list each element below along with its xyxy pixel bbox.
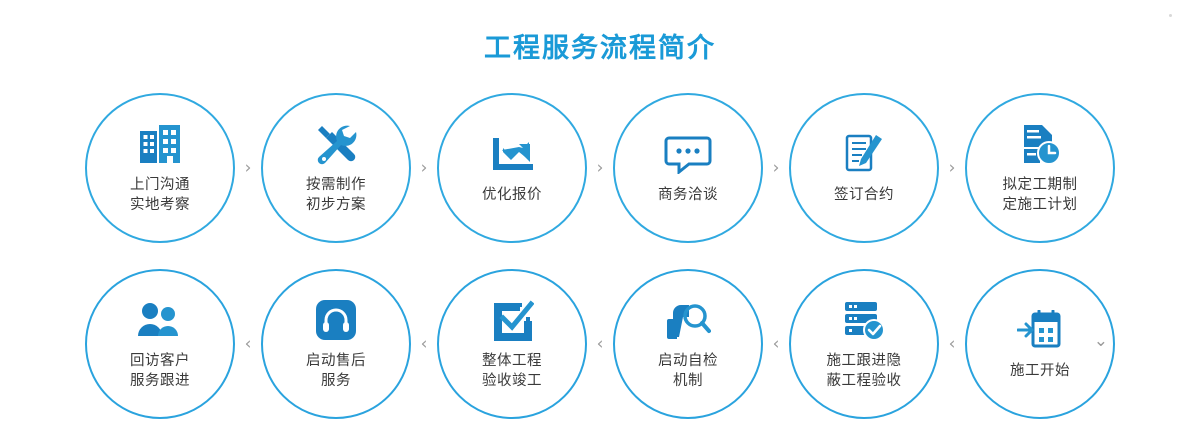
flow-step-label: 优化报价 (482, 185, 542, 205)
flow-step-shangmen-goutong[interactable]: 上门沟通 实地考察 (85, 93, 235, 243)
arrow-left-icon-1: ‹ (235, 336, 261, 353)
flow-step-zhengti-gongcheng[interactable]: 整体工程 验收竣工 (437, 269, 587, 419)
flow-step-qidong-zijian[interactable]: 启动自检 机制 (613, 269, 763, 419)
flow-row-1: 上门沟通 实地考察 › 按需制作 初步方案 › (0, 88, 1200, 248)
arrow-right-icon-3: › (587, 160, 613, 177)
flow-step-label: 整体工程 验收竣工 (482, 351, 542, 391)
flow-step-niding-gongqi[interactable]: 拟定工期制 定施工计划 (965, 93, 1115, 243)
document-clock-icon (1014, 121, 1066, 167)
hand-search-icon (662, 297, 714, 343)
contract-pen-icon (838, 131, 890, 177)
flow-step-label: 拟定工期制 定施工计划 (1003, 175, 1078, 215)
arrow-down-icon: ⌄ (1094, 333, 1108, 350)
arrow-left-icon-4: ‹ (763, 336, 789, 353)
arrow-left-icon-5: ‹ (939, 336, 965, 353)
flow-row-2: 回访客户 服务跟进 ‹ 启动售后 服务 ‹ (0, 264, 1200, 424)
flow-step-label: 商务洽谈 (658, 185, 718, 205)
arrow-right-icon-5: › (939, 160, 965, 177)
flow-step-label: 上门沟通 实地考察 (130, 175, 190, 215)
corner-dot (1169, 14, 1172, 17)
arrow-right-icon-4: › (763, 160, 789, 177)
flow-step-label: 启动自检 机制 (658, 351, 718, 391)
chat-bubble-icon (662, 131, 714, 177)
flow-step-label: 按需制作 初步方案 (306, 175, 366, 215)
page-title: 工程服务流程简介 (0, 26, 1200, 65)
headset-icon (310, 297, 362, 343)
flow-step-shigong-genjin[interactable]: 施工跟进隐 蔽工程验收 (789, 269, 939, 419)
arrow-right-icon-2: › (411, 160, 437, 177)
flow-step-label: 启动售后 服务 (306, 351, 366, 391)
process-flow-diagram: 上门沟通 实地考察 › 按需制作 初步方案 › (0, 88, 1200, 424)
flow-step-qianding-heyue[interactable]: 签订合约 (789, 93, 939, 243)
chart-down-icon (486, 131, 538, 177)
flow-step-shigong-kaishi[interactable]: 施工开始 (965, 269, 1115, 419)
server-check-icon (838, 297, 890, 343)
arrow-left-icon-3: ‹ (587, 336, 613, 353)
flow-step-youhua-baojia[interactable]: 优化报价 (437, 93, 587, 243)
users-icon (134, 297, 186, 343)
arrow-left-icon-2: ‹ (411, 336, 437, 353)
calendar-start-icon (1014, 307, 1066, 353)
flow-step-label: 签订合约 (834, 185, 894, 205)
flow-step-qidong-shouhou[interactable]: 启动售后 服务 (261, 269, 411, 419)
flow-step-label: 施工跟进隐 蔽工程验收 (827, 351, 902, 391)
checkbox-check-icon (486, 297, 538, 343)
building-icon (134, 121, 186, 167)
flow-step-shangwu-qiatan[interactable]: 商务洽谈 (613, 93, 763, 243)
flow-step-huifang-kehu[interactable]: 回访客户 服务跟进 (85, 269, 235, 419)
tools-icon (310, 121, 362, 167)
flow-step-anxu-zhizuo[interactable]: 按需制作 初步方案 (261, 93, 411, 243)
arrow-right-icon-1: › (235, 160, 261, 177)
flow-step-label: 回访客户 服务跟进 (130, 351, 190, 391)
flow-step-label: 施工开始 (1010, 361, 1070, 381)
